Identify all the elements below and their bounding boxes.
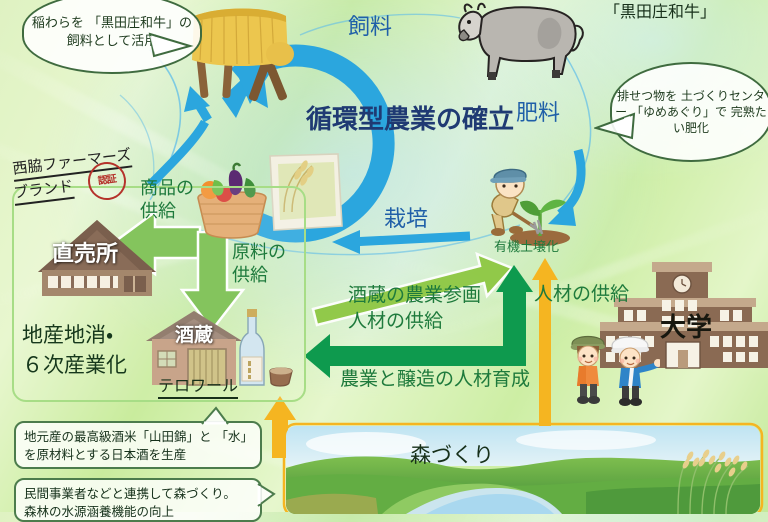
certification-stamp-text: 認証 — [97, 175, 116, 187]
human-resource-supply-label: 人材の供給 — [534, 283, 629, 307]
sake-rice-callout: 地元産の最高級酒米「山田錦」と 「水」を原材料とする日本酒を生産 — [14, 421, 262, 469]
rice-straw-bubble-tail — [148, 30, 194, 62]
forest-callout-text: 民間事業者などと連携して森づくり。 森林の水源涵養機能の向上 — [24, 486, 236, 519]
manure-bubble-tail — [594, 108, 636, 144]
sake-rice-callout-tail — [198, 406, 234, 426]
brewery-participation-label: 酒蔵の農業参画 人材の供給 — [348, 283, 481, 334]
brand-line-2: ブランド — [12, 177, 74, 206]
students-illustration — [568, 322, 660, 406]
forest-landscape-illustration — [286, 426, 760, 514]
wagyu-label: 「黒田庄和牛」 — [604, 2, 716, 22]
forest-making-label: 森づくり — [410, 442, 494, 468]
forest-callout-tail — [256, 482, 278, 512]
local-production-label: 地産地消・ ６次産業化 — [22, 320, 127, 381]
material-supply-label: 原料の 供給 — [232, 242, 286, 287]
forest-callout: 民間事業者などと連携して森づくり。 森林の水源涵養機能の向上 — [14, 478, 262, 522]
cycle-label-fertilizer: 肥料 — [516, 100, 560, 128]
human-resource-development-label: 農業と醸造の人材育成 — [340, 368, 530, 392]
cycle-label-feed: 飼料 — [348, 14, 392, 42]
organic-soil-label: 有機土壌化 — [494, 240, 559, 256]
farmer-tilling-illustration — [478, 158, 588, 253]
farm-stand-label: 直売所 — [52, 236, 118, 268]
cycle-bottom-arrow — [332, 230, 470, 254]
cycle-label-cultivation: 栽培 — [384, 206, 428, 234]
cow-illustration — [452, 0, 592, 82]
sake-rice-callout-text: 地元産の最高級酒米「山田錦」と 「水」を原材料とする日本酒を生産 — [24, 429, 247, 462]
sake-brewery-label: 酒蔵 — [175, 320, 213, 347]
university-label: 大学 — [660, 312, 712, 345]
cycle-center-title: 循環型農業の確立 — [306, 104, 514, 137]
diagram-canvas: 稲わらを 「黒田庄和牛」の 飼料として活用 排せつ物を 土づくりセンター 「ゆめ… — [0, 0, 768, 512]
product-supply-label: 商品の 供給 — [140, 178, 194, 223]
terroir-label: テロワール — [158, 376, 238, 399]
